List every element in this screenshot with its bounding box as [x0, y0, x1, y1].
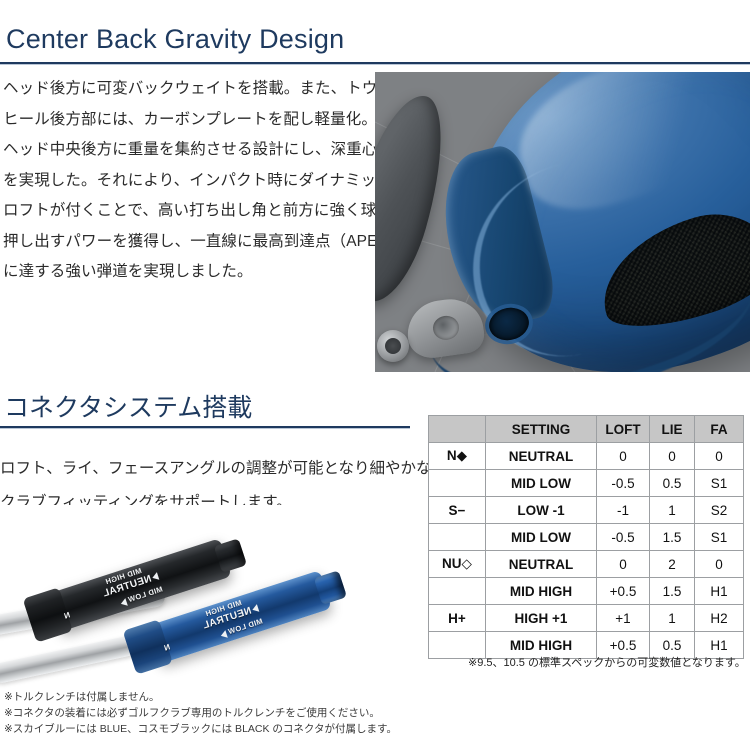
- cell-lie: 1.5: [650, 578, 695, 605]
- table-row: NU◇ NEUTRAL 0 2 0: [429, 551, 744, 578]
- cell-code: N◆: [429, 443, 486, 470]
- body-line: 押し出すパワーを獲得し、一直線に最高到達点（APEX）: [3, 227, 365, 258]
- cell-code: [429, 470, 486, 497]
- page-title: Center Back Gravity Design: [6, 22, 344, 56]
- cell-lie: 1.5: [650, 524, 695, 551]
- cell-code: [429, 524, 486, 551]
- cell-setting: LOW -1: [486, 497, 597, 524]
- footnote-line: ※スカイブルーには BLUE、コスモブラックには BLACK のコネクタが付属し…: [4, 721, 444, 737]
- table-row: MID LOW -0.5 0.5 S1: [429, 470, 744, 497]
- cell-setting: NEUTRAL: [486, 443, 597, 470]
- cell-fa: 0: [695, 443, 744, 470]
- cell-fa: 0: [695, 551, 744, 578]
- table-row: MID HIGH +0.5 1.5 H1: [429, 578, 744, 605]
- cell-loft: +0.5: [597, 578, 650, 605]
- cell-loft: -0.5: [597, 524, 650, 551]
- section2-title: コネクタシステム搭載: [4, 392, 252, 424]
- cell-fa: S1: [695, 470, 744, 497]
- body-line: ロフトが付くことで、高い打ち出し角と前方に強く球を: [3, 196, 365, 227]
- table-header-row: SETTING LOFT LIE FA: [429, 416, 744, 443]
- body-line: ヘッド中央後方に重量を集約させる設計にし、深重心化: [3, 135, 365, 166]
- title-divider: [0, 62, 750, 64]
- connector-blue-tip: [314, 570, 347, 605]
- cell-code: S−: [429, 497, 486, 524]
- cell-lie: 0: [650, 443, 695, 470]
- cell-setting: MID LOW: [486, 524, 597, 551]
- connector-blue-arrow-upper: [251, 604, 259, 613]
- footnote-line: ※コネクタの装着には必ずゴルフクラブ専用のトルクレンチをご使用ください。: [4, 705, 444, 721]
- cell-loft: +1: [597, 605, 650, 632]
- body-line: を実現した。それにより、インパクト時にダイナミック: [3, 166, 365, 197]
- spec-table-note: ※9.5、10.5 の標準スペックからの可変数値となります。: [468, 654, 746, 670]
- cell-fa: S2: [695, 497, 744, 524]
- cell-loft: 0: [597, 443, 650, 470]
- connector-black-arrow-lower: [120, 598, 128, 607]
- connector-blue-arrow-lower: [220, 630, 228, 639]
- cell-fa: S1: [695, 524, 744, 551]
- connector-blue-mark: N: [163, 642, 172, 652]
- cell-setting: MID HIGH: [486, 578, 597, 605]
- column-header-fa: FA: [695, 416, 744, 443]
- cell-lie: 0.5: [650, 470, 695, 497]
- connector-black-mark: N: [63, 610, 72, 620]
- connector-photo: MID HIGH NEUTRAL MID LOW N MID HIGH NEUT…: [0, 505, 420, 690]
- column-header-setting: SETTING: [486, 416, 597, 443]
- cell-lie: 1: [650, 605, 695, 632]
- spec-table-body: N◆ NEUTRAL 0 0 0 MID LOW -0.5 0.5 S1 S− …: [429, 443, 744, 659]
- cell-code: NU◇: [429, 551, 486, 578]
- footnotes: ※トルクレンチは付属しません。 ※コネクタの装着には必ずゴルフクラブ専用のトルク…: [4, 689, 444, 737]
- body-line: に達する強い弾道を実現しました。: [3, 257, 365, 288]
- body-line: ヒール後方部には、カーボンプレートを配し軽量化。: [3, 105, 365, 136]
- cell-setting: HIGH +1: [486, 605, 597, 632]
- cell-loft: -1: [597, 497, 650, 524]
- cell-fa: H2: [695, 605, 744, 632]
- cell-lie: 2: [650, 551, 695, 578]
- table-row: MID LOW -0.5 1.5 S1: [429, 524, 744, 551]
- column-header-lie: LIE: [650, 416, 695, 443]
- connector-black-tip: [214, 538, 247, 573]
- product-spec-page: Center Back Gravity Design ヘッド後方に可変バックウェ…: [0, 0, 750, 750]
- cell-setting: NEUTRAL: [486, 551, 597, 578]
- table-row: S− LOW -1 -1 1 S2: [429, 497, 744, 524]
- body-line: ロフト、ライ、フェースアングルの調整が可能となり細やかな: [0, 452, 400, 486]
- section1-body: ヘッド後方に可変バックウェイトを搭載。また、トウ・ ヒール後方部には、カーボンプ…: [3, 74, 365, 288]
- connector-black-arrow-upper: [151, 572, 159, 581]
- section2-divider: [0, 426, 410, 428]
- footnote-line: ※トルクレンチは付属しません。: [4, 689, 444, 705]
- cell-loft: -0.5: [597, 470, 650, 497]
- table-row: N◆ NEUTRAL 0 0 0: [429, 443, 744, 470]
- cell-fa: H1: [695, 578, 744, 605]
- cell-setting: MID LOW: [486, 470, 597, 497]
- cell-lie: 1: [650, 497, 695, 524]
- product-image: [375, 72, 750, 372]
- cell-code: [429, 578, 486, 605]
- weight-screw: [377, 330, 409, 362]
- cell-code: H+: [429, 605, 486, 632]
- body-line: ヘッド後方に可変バックウェイトを搭載。また、トウ・: [3, 74, 365, 105]
- spec-table: SETTING LOFT LIE FA N◆ NEUTRAL 0 0 0 MID…: [428, 415, 744, 659]
- column-header-loft: LOFT: [597, 416, 650, 443]
- table-row: H+ HIGH +1 +1 1 H2: [429, 605, 744, 632]
- cell-loft: 0: [597, 551, 650, 578]
- column-header-code: [429, 416, 486, 443]
